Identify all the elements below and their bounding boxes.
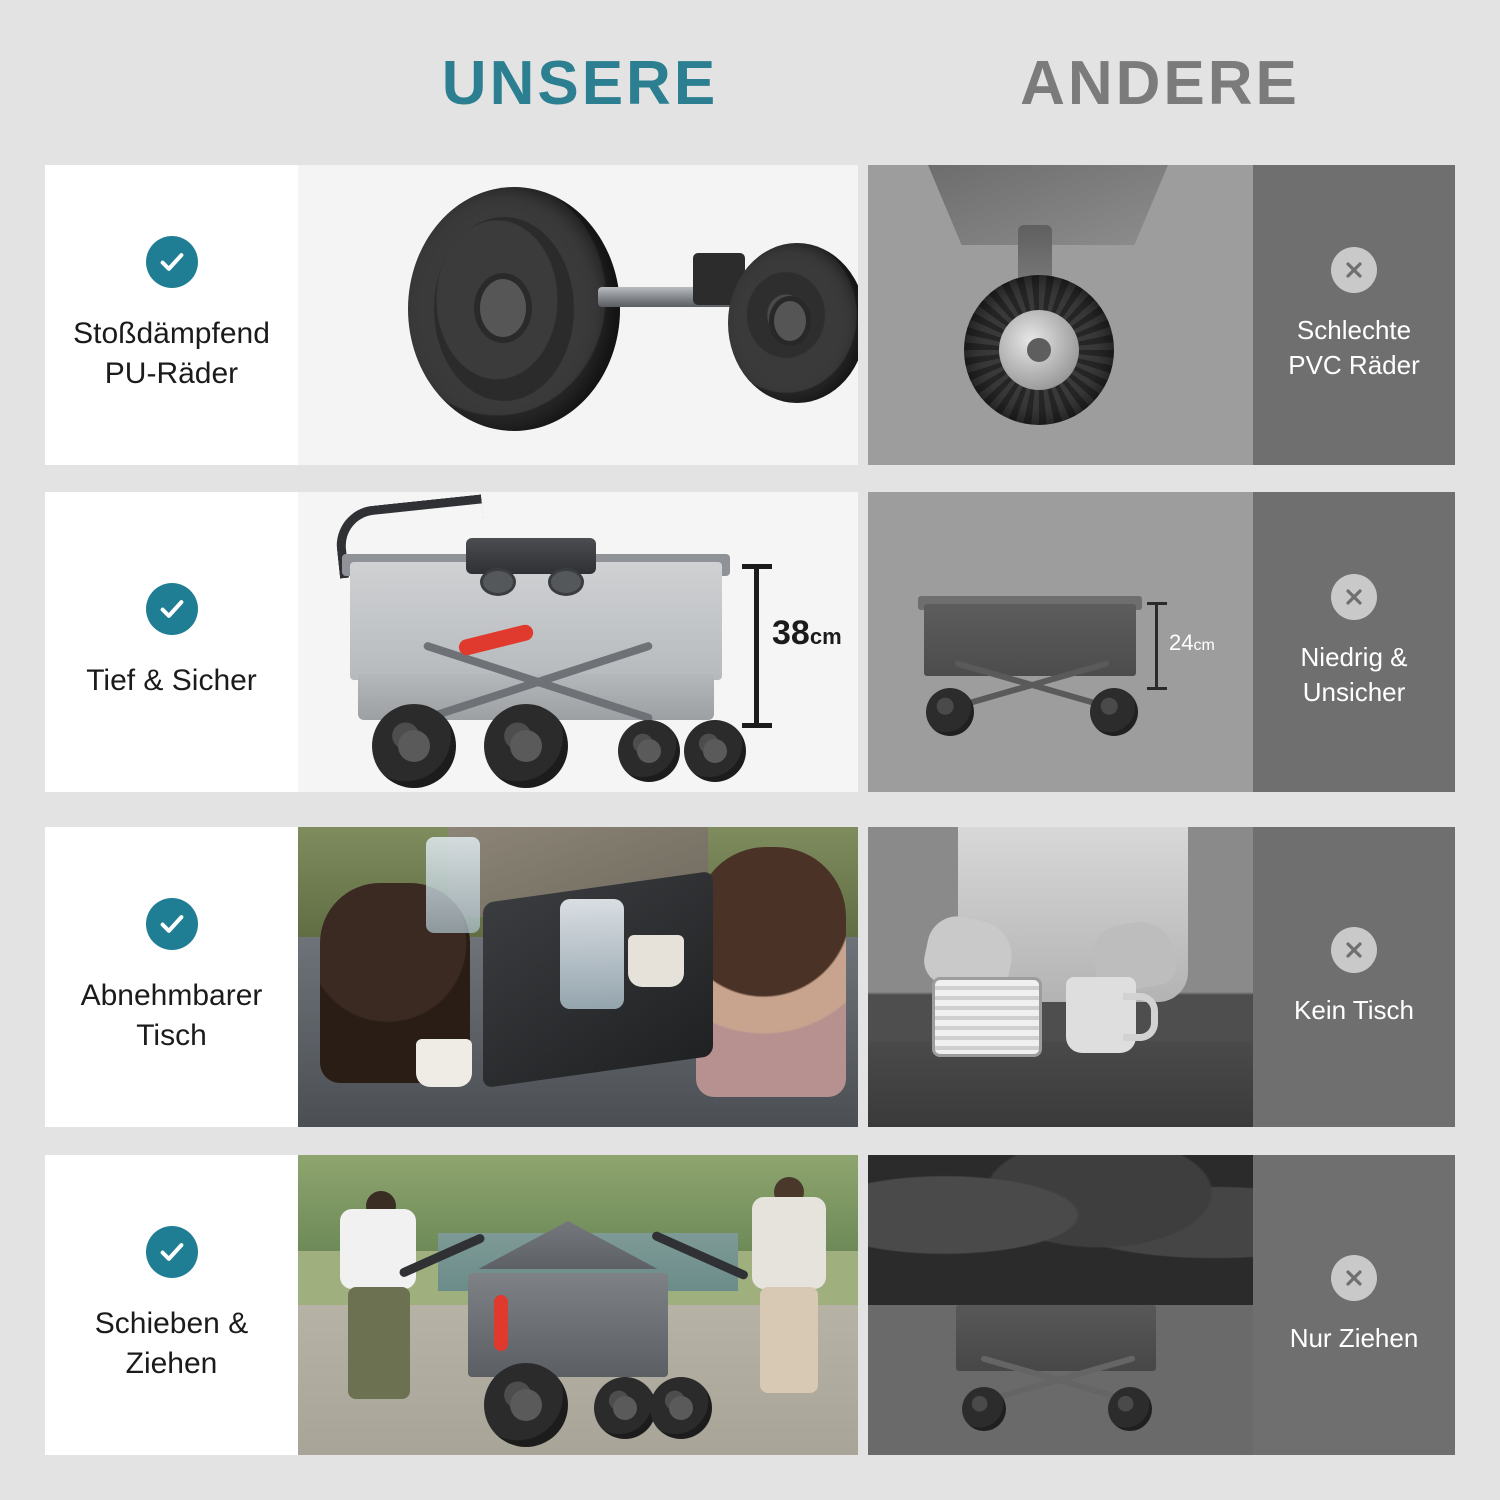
others-label-text-3: Kein Tisch <box>1294 993 1414 1028</box>
sippy-cup <box>560 899 624 1009</box>
wagon-wheel <box>650 1377 712 1439</box>
comparison-row-push-pull: Schieben & Ziehen <box>45 1155 1455 1455</box>
others-label-cell-3: Kein Tisch <box>1253 827 1455 1127</box>
others-image-no-table <box>868 827 1253 1127</box>
red-release-lever <box>494 1295 508 1351</box>
shallow-wagon-illustration: 24cm <box>868 492 1253 792</box>
ours-label-cell-1: Stoßdämpfend PU-Räder <box>45 165 298 465</box>
height-measurement-others: 24cm <box>1147 602 1225 690</box>
water-bottle <box>426 837 480 933</box>
basic-wagon-wheel <box>1108 1387 1152 1431</box>
ours-label-cell-4: Schieben & Ziehen <box>45 1155 298 1455</box>
comparison-row-depth: Tief & Sicher <box>45 492 1455 792</box>
others-label-cell-4: Nur Ziehen <box>1253 1155 1455 1455</box>
cup-holder <box>548 568 584 596</box>
others-label-text-4: Nur Ziehen <box>1290 1321 1419 1356</box>
comparison-row-wheels: Stoßdämpfend PU-Räder <box>45 165 1455 465</box>
small-pu-wheel <box>728 243 858 403</box>
shallow-wagon-cross-brace <box>952 660 1108 708</box>
check-icon <box>146 236 198 288</box>
pu-wheels-illustration <box>298 165 858 465</box>
cross-icon <box>1331 247 1377 293</box>
person-pulling <box>730 1177 848 1427</box>
measure-value-others: 24cm <box>1169 630 1215 656</box>
headings: UNSERE ANDERE <box>0 48 1500 143</box>
heading-others: ANDERE <box>860 48 1460 119</box>
measure-line <box>754 564 759 728</box>
large-pu-wheel <box>408 187 620 431</box>
others-image-shallow-wagon: 24cm <box>868 492 1253 792</box>
person-pushing <box>322 1191 432 1417</box>
cross-icon <box>1331 1255 1377 1301</box>
comparison-row-table: Abnehmbarer Tisch <box>45 827 1455 1127</box>
ours-image-push-and-pull <box>298 1155 858 1455</box>
ours-label-text-3: Abnehmbarer Tisch <box>81 976 263 1055</box>
wagon-wheel <box>372 704 456 788</box>
measure-tick-top <box>1147 602 1167 605</box>
others-label-text-1: Schlechte PVC Räder <box>1288 313 1420 383</box>
cross-icon <box>1331 927 1377 973</box>
background-trees <box>868 1155 1253 1305</box>
measure-number: 24 <box>1169 630 1193 655</box>
measure-unit: cm <box>810 624 842 649</box>
wagon-wheel <box>484 1363 568 1447</box>
person-legs <box>760 1287 818 1393</box>
heading-ours: UNSERE <box>300 48 860 119</box>
wagon-wheel <box>618 720 680 782</box>
ours-label-text-4: Schieben & Ziehen <box>95 1304 248 1383</box>
check-icon <box>146 898 198 950</box>
pvc-hub <box>999 310 1079 390</box>
comparison-infographic: UNSERE ANDERE Stoßdämpfend PU-Räder <box>0 0 1500 1500</box>
others-image-pvc-wheel <box>868 165 1253 465</box>
measure-tick-bottom <box>1147 687 1167 690</box>
pull-only-illustration <box>868 1155 1253 1455</box>
person-legs <box>348 1287 410 1399</box>
kids-with-table-illustration <box>298 827 858 1127</box>
ours-label-text-2: Tief & Sicher <box>86 661 257 701</box>
person-torso <box>752 1197 826 1289</box>
ours-label-cell-3: Abnehmbarer Tisch <box>45 827 298 1127</box>
wagon-wheel <box>594 1377 656 1439</box>
measure-unit: cm <box>1193 637 1214 654</box>
ours-image-pu-wheels <box>298 165 858 465</box>
height-measurement-ours: 38cm <box>742 564 812 728</box>
measure-line <box>1155 602 1158 690</box>
no-table-illustration <box>868 827 1253 1127</box>
outdoor-scene-illustration <box>298 1155 858 1455</box>
pvc-wheel-illustration <box>868 165 1253 465</box>
others-image-pull-only <box>868 1155 1253 1455</box>
wagon-wheel <box>484 704 568 788</box>
others-label-cell-2: Niedrig & Unsicher <box>1253 492 1455 792</box>
measure-tick-bottom <box>742 723 772 728</box>
others-label-text-2: Niedrig & Unsicher <box>1301 640 1408 710</box>
cross-icon <box>1331 574 1377 620</box>
shallow-wagon-wheel <box>926 688 974 736</box>
ours-label-cell-2: Tief & Sicher <box>45 492 298 792</box>
deep-wagon-illustration: 38cm <box>298 492 858 792</box>
ours-image-deep-wagon: 38cm <box>298 492 858 792</box>
measure-number: 38 <box>772 614 810 652</box>
wagon-table <box>466 538 596 574</box>
measure-value-ours: 38cm <box>772 614 842 653</box>
shallow-wagon-wheel <box>1090 688 1138 736</box>
sippy-mug <box>1066 977 1136 1053</box>
child-right <box>696 847 846 1097</box>
others-label-cell-1: Schlechte PVC Räder <box>1253 165 1455 465</box>
snack-cup <box>628 935 684 987</box>
check-icon <box>146 1226 198 1278</box>
wagon-wheel <box>684 720 746 782</box>
ours-label-text-1: Stoßdämpfend PU-Räder <box>73 314 270 393</box>
snack-tin <box>932 977 1042 1057</box>
ours-image-removable-table <box>298 827 858 1127</box>
cup-holder <box>480 568 516 596</box>
basic-wagon-wheel <box>962 1387 1006 1431</box>
measure-tick-top <box>742 564 772 569</box>
wagon-fabric <box>868 1041 1253 1127</box>
check-icon <box>146 583 198 635</box>
snack-cup <box>416 1039 472 1087</box>
